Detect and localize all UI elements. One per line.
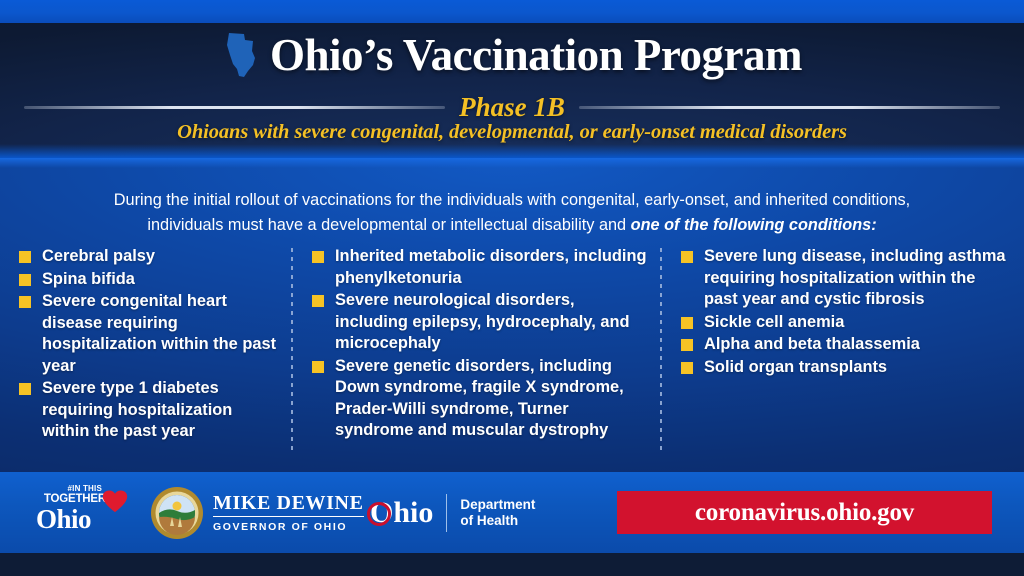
ohio-state-outline-icon: [222, 31, 258, 79]
website-url-text: coronavirus.ohio.gov: [695, 499, 914, 527]
conditions-list-1: Cerebral palsy Spina bifida Severe conge…: [18, 246, 279, 443]
phase-label: Phase 1B: [459, 92, 565, 123]
subtitle: Ohioans with severe congenital, developm…: [0, 121, 1024, 144]
conditions-columns: Cerebral palsy Spina bifida Severe conge…: [0, 246, 1024, 452]
list-item: Spina bifida: [18, 269, 279, 291]
footer-bottom-strip: [0, 553, 1024, 576]
odh-department-text: Department of Health: [460, 497, 535, 530]
odh-separator: [446, 494, 447, 532]
in-this-together-ohio-logo: #IN THIS TOGETHER Ohio: [36, 483, 128, 533]
rule-left: [24, 106, 445, 109]
conditions-column-2: Inherited metabolic disorders, including…: [293, 246, 662, 452]
list-item: Severe lung disease, including asthma re…: [680, 246, 1010, 311]
list-item: Severe genetic disorders, including Down…: [311, 356, 648, 442]
intro-line-2: individuals must have a developmental or…: [147, 216, 630, 234]
intro-emphasis: one of the following conditions:: [631, 216, 877, 234]
vaccination-phase-1b-infographic: Ohio’s Vaccination Program Phase 1B Ohio…: [0, 0, 1024, 576]
list-item: Severe type 1 diabetes requiring hospita…: [18, 378, 279, 443]
odh-wordmark: Ohio: [368, 497, 433, 529]
list-item: Solid organ transplants: [680, 357, 1010, 379]
phase-row: Phase 1B: [0, 92, 1024, 123]
conditions-list-2: Inherited metabolic disorders, including…: [311, 246, 648, 442]
list-item: Sickle cell anemia: [680, 312, 1010, 334]
page-title: Ohio’s Vaccination Program: [270, 29, 802, 81]
itt-line-1: #IN THIS: [68, 484, 103, 493]
ohio-governor-seal-icon: [150, 486, 204, 540]
itt-line-3: Ohio: [36, 506, 91, 533]
website-url-banner[interactable]: coronavirus.ohio.gov: [617, 491, 992, 534]
intro-paragraph: During the initial rollout of vaccinatio…: [0, 188, 1024, 238]
ohio-department-of-health-logo: Ohio Department of Health: [368, 489, 535, 537]
rule-right: [579, 106, 1000, 109]
list-item: Alpha and beta thalassemia: [680, 334, 1010, 356]
conditions-column-1: Cerebral palsy Spina bifida Severe conge…: [0, 246, 293, 452]
list-item: Severe neurological disorders, including…: [311, 290, 648, 355]
heart-icon: [102, 490, 128, 513]
intro-line-1: During the initial rollout of vaccinatio…: [114, 191, 910, 209]
list-item: Inherited metabolic disorders, including…: [311, 246, 648, 289]
list-item: Cerebral palsy: [18, 246, 279, 268]
governor-text: MIKE DEWINE GOVERNOR OF OHIO: [213, 492, 364, 534]
governor-name: MIKE DEWINE: [213, 492, 364, 514]
conditions-column-3: Severe lung disease, including asthma re…: [662, 246, 1024, 452]
odh-dept-line-1: Department: [460, 497, 535, 514]
title-row: Ohio’s Vaccination Program: [0, 29, 1024, 81]
list-item: Severe congenital heart disease requirin…: [18, 291, 279, 377]
conditions-list-3: Severe lung disease, including asthma re…: [680, 246, 1010, 378]
governor-subtitle: GOVERNOR OF OHIO: [213, 516, 364, 534]
governor-logo: MIKE DEWINE GOVERNOR OF OHIO: [150, 485, 364, 540]
odh-dept-line-2: of Health: [460, 513, 535, 530]
odh-o-ring-icon: [367, 502, 391, 526]
top-accent-strip: [0, 0, 1024, 23]
